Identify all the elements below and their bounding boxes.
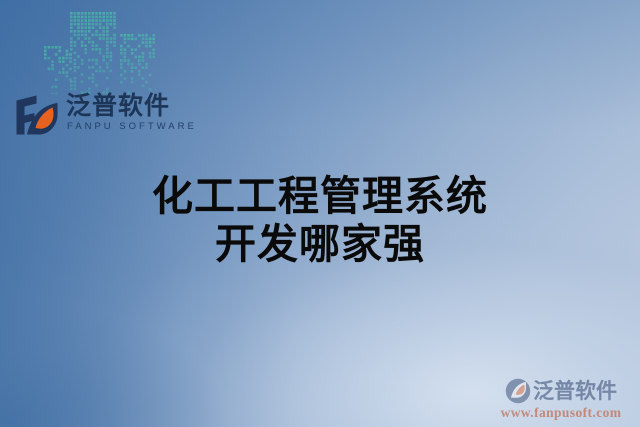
watermark-name-cn: 泛普软件 — [533, 379, 617, 403]
brand-name-en: FANPU SOFTWARE — [67, 121, 197, 133]
watermark: 泛普软件 www.fanpusoft.com — [488, 378, 634, 421]
fanpu-watermark-icon — [505, 378, 531, 404]
pixel-skyline-icon — [44, 4, 156, 94]
watermark-url: www.fanpusoft.com — [488, 405, 634, 421]
slide-canvas: 泛普软件 FANPU SOFTWARE 化工工程管理系统 开发哪家强 泛普软件 … — [0, 0, 640, 427]
brand-logo: 泛普软件 FANPU SOFTWARE — [14, 92, 197, 136]
watermark-brand-row: 泛普软件 — [488, 378, 634, 404]
brand-name-cn: 泛普软件 — [66, 92, 197, 120]
fanpu-logo-icon — [14, 94, 60, 136]
